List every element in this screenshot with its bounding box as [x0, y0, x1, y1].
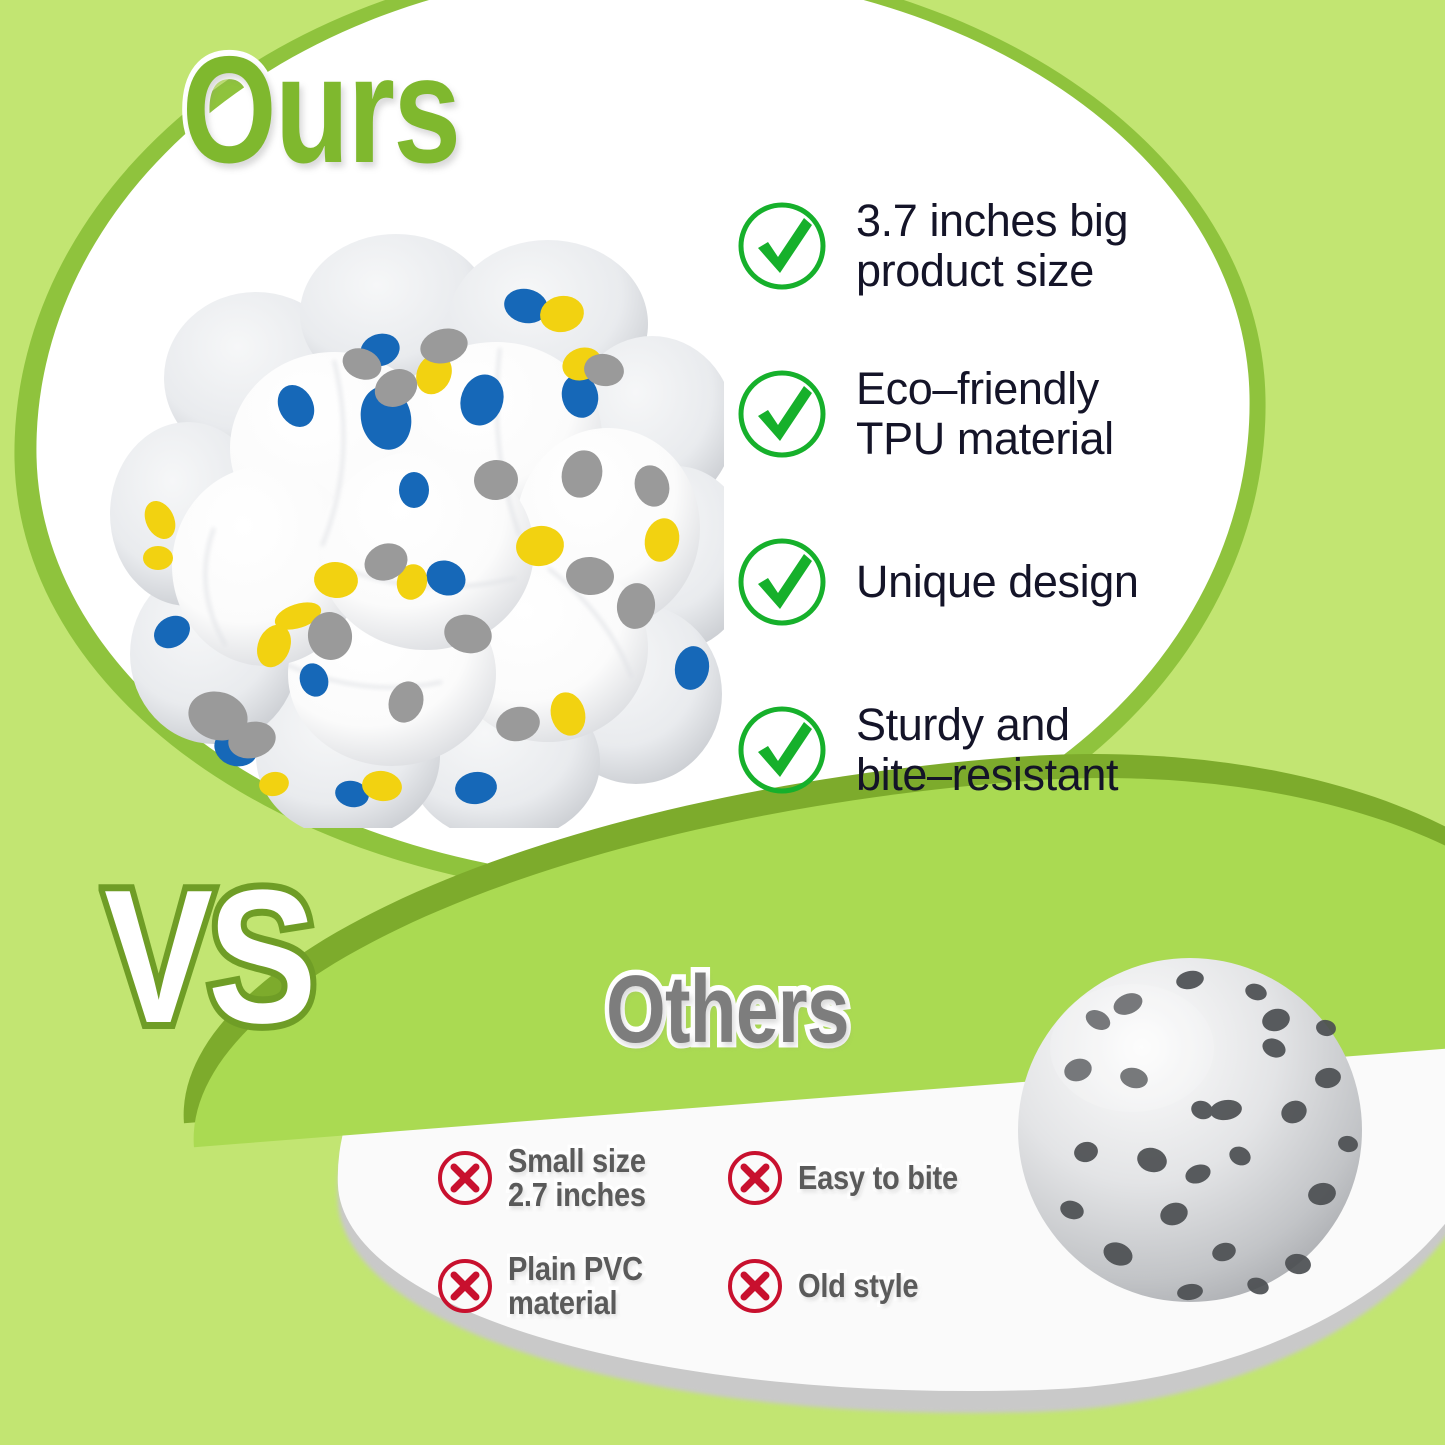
- list-item: 3.7 inches big product size: [736, 162, 1296, 330]
- pros-item-label: Sturdy and bite–resistant: [856, 700, 1118, 801]
- check-circle-icon: [736, 368, 828, 460]
- ours-product-ball: [96, 228, 724, 828]
- cons-item-label: Old style: [798, 1269, 918, 1303]
- list-item: Easy to bite: [726, 1124, 1016, 1232]
- others-product-ball: [1012, 952, 1368, 1308]
- pros-item-label: Eco–friendly TPU material: [856, 364, 1114, 465]
- cons-item-label: Small size 2.7 inches: [508, 1144, 646, 1213]
- check-circle-icon: [736, 704, 828, 796]
- x-circle-icon: [726, 1257, 784, 1315]
- pros-item-label: Unique design: [856, 557, 1139, 607]
- list-item: Small size 2.7 inches: [436, 1124, 726, 1232]
- pros-list: 3.7 inches big product size Eco–friendly…: [736, 162, 1296, 834]
- page-title-others: Others: [606, 962, 849, 1058]
- x-circle-icon: [726, 1149, 784, 1207]
- pros-item-label: 3.7 inches big product size: [856, 196, 1128, 297]
- check-circle-icon: [736, 536, 828, 628]
- vs-divider-label: VS: [104, 862, 312, 1052]
- x-circle-icon: [436, 1149, 494, 1207]
- x-circle-icon: [436, 1257, 494, 1315]
- cons-item-label: Plain PVC material: [508, 1252, 643, 1321]
- cons-item-label: Easy to bite: [798, 1161, 958, 1195]
- list-item: Old style: [726, 1232, 1016, 1340]
- list-item: Unique design: [736, 498, 1296, 666]
- cons-list: Small size 2.7 inches Easy to bite: [436, 1124, 1026, 1340]
- infographic-canvas: Ours VS Others 3.7 inches big product si…: [0, 0, 1445, 1445]
- list-item: Eco–friendly TPU material: [736, 330, 1296, 498]
- list-item: Plain PVC material: [436, 1232, 726, 1340]
- check-circle-icon: [736, 200, 828, 292]
- page-title-ours: Ours: [182, 34, 459, 186]
- list-item: Sturdy and bite–resistant: [736, 666, 1296, 834]
